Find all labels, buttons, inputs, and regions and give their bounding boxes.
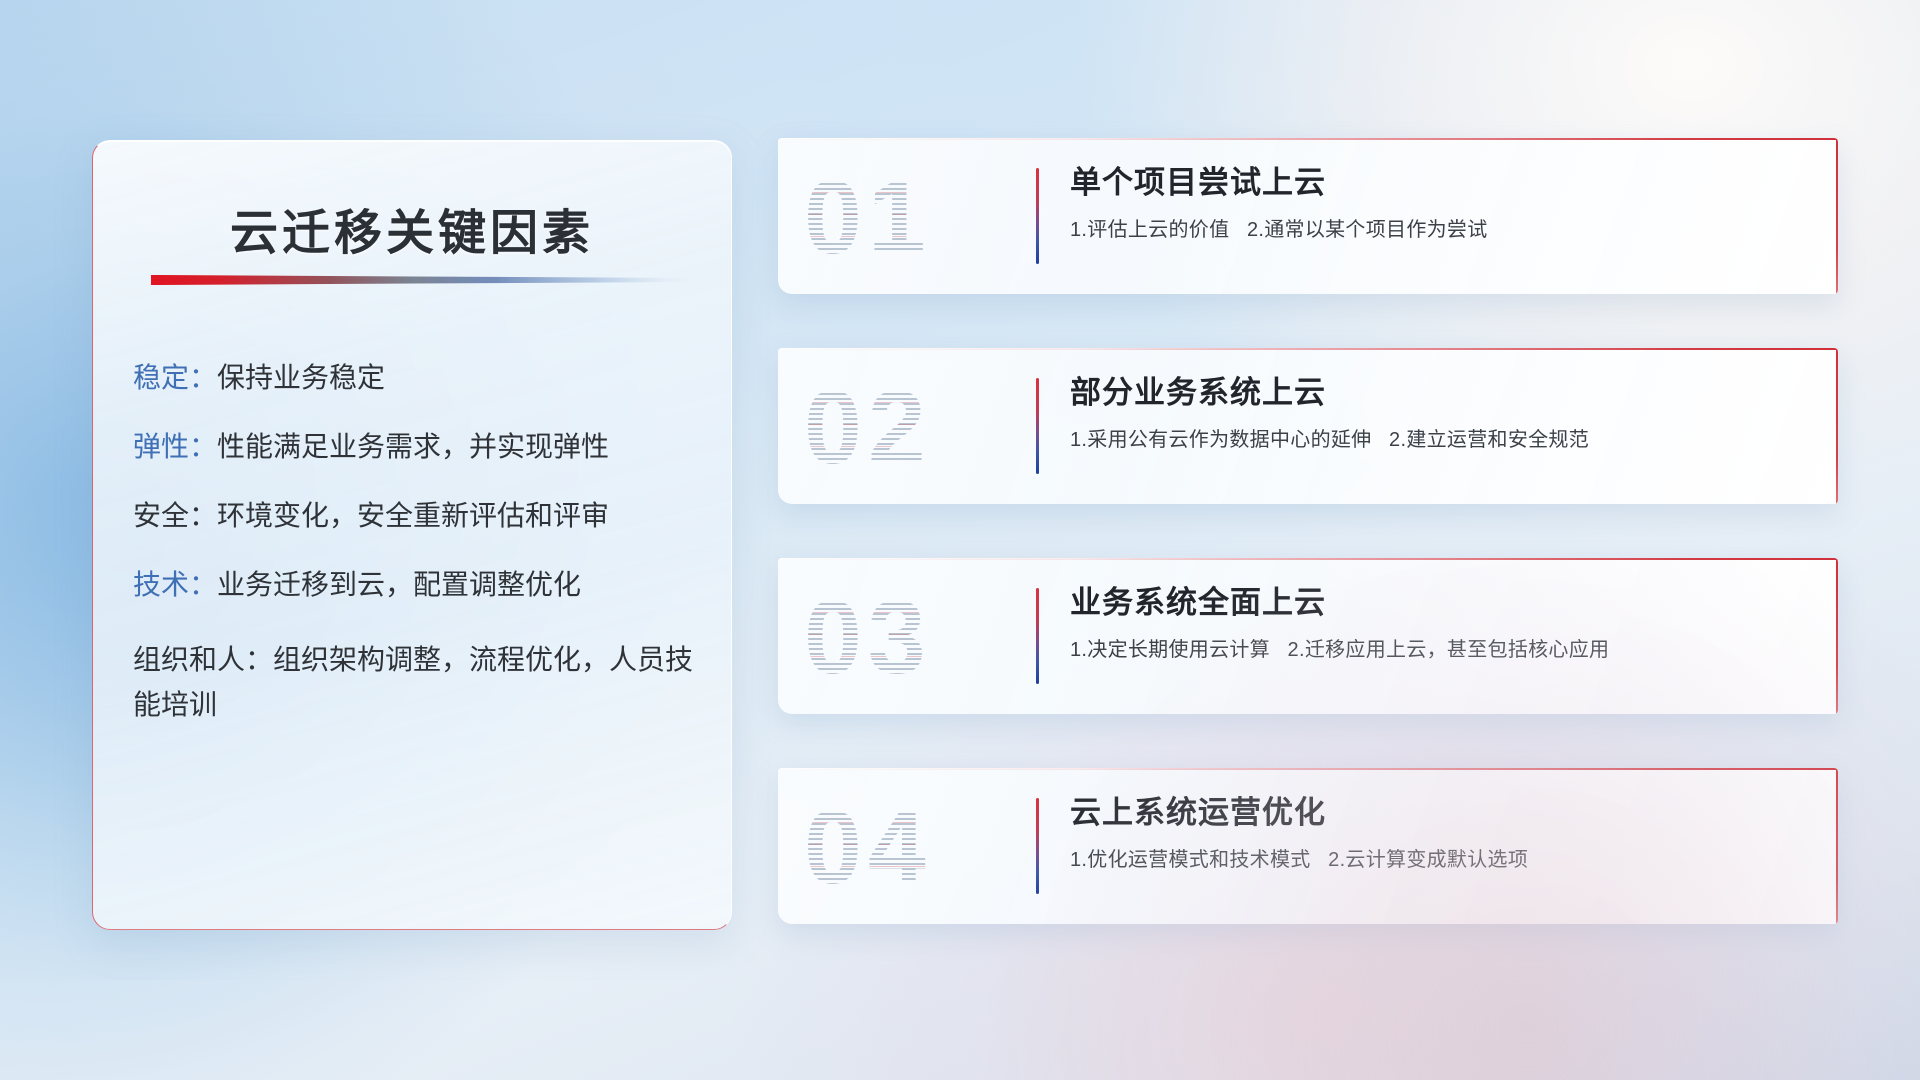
card-accent-bar [1036,588,1039,684]
step-number: 01 [804,148,1034,288]
card-subtitle: 1.采用公有云作为数据中心的延伸 2.建立运营和安全规范 [1070,427,1810,453]
factor-text: 性能满足业务需求，并实现弹性 [217,431,609,462]
card-body: 业务系统全面上云1.决定长期使用云计算 2.迁移应用上云，甚至包括核心应用 [1070,584,1810,663]
slide-canvas: 云迁移关键因素 稳定：保持业务稳定弹性：性能满足业务需求，并实现弹性安全：环境变… [0,0,1920,1080]
page-title: 云迁移关键因素 [93,193,731,263]
factor-text: 环境变化，安全重新评估和评审 [217,500,609,531]
card-accent-bar [1036,168,1039,264]
step-number-tint-overlay: 04 [804,778,1034,918]
card-top-accent-line [778,138,1838,140]
card-top-accent-line [778,348,1838,350]
key-factors-panel: 云迁移关键因素 稳定：保持业务稳定弹性：性能满足业务需求，并实现弹性安全：环境变… [92,140,732,930]
step-number: 03 [804,568,1034,708]
factor-label: 技术： [133,569,217,600]
card-top-accent-line [778,558,1838,560]
factor-label: 弹性： [133,431,217,462]
card-title: 单个项目尝试上云 [1070,164,1810,201]
card-subtitle: 1.优化运营模式和技术模式 2.云计算变成默认选项 [1070,847,1810,873]
migration-steps-list: 0101单个项目尝试上云1.评估上云的价值 2.通常以某个项目作为尝试0202部… [778,138,1838,924]
step-number-tint-overlay: 01 [804,148,1034,288]
card-right-accent-line [1836,558,1838,714]
step-card[interactable]: 0202部分业务系统上云1.采用公有云作为数据中心的延伸 2.建立运营和安全规范 [778,348,1838,504]
card-title: 部分业务系统上云 [1070,374,1810,411]
card-right-accent-line [1836,768,1838,924]
step-number-tint-overlay: 03 [804,568,1034,708]
card-body: 云上系统运营优化1.优化运营模式和技术模式 2.云计算变成默认选项 [1070,794,1810,873]
factor-label: 安全： [133,500,217,531]
card-accent-bar [1036,378,1039,474]
card-subtitle: 1.评估上云的价值 2.通常以某个项目作为尝试 [1070,217,1810,243]
step-number-tint-overlay: 02 [804,358,1034,498]
factor-row: 稳定：保持业务稳定 [133,361,701,394]
step-number: 02 [804,358,1034,498]
factor-label: 组织和人： [133,644,273,675]
factor-row: 技术：业务迁移到云，配置调整优化 [133,568,701,601]
card-title: 业务系统全面上云 [1070,584,1810,621]
title-underline-gradient [151,273,691,287]
factor-text: 保持业务稳定 [217,362,385,393]
step-number: 04 [804,778,1034,918]
card-accent-bar [1036,798,1039,894]
card-body: 单个项目尝试上云1.评估上云的价值 2.通常以某个项目作为尝试 [1070,164,1810,243]
factor-row: 安全：环境变化，安全重新评估和评审 [133,499,701,532]
factor-list: 稳定：保持业务稳定弹性：性能满足业务需求，并实现弹性安全：环境变化，安全重新评估… [133,361,701,728]
card-body: 部分业务系统上云1.采用公有云作为数据中心的延伸 2.建立运营和安全规范 [1070,374,1810,453]
card-subtitle: 1.决定长期使用云计算 2.迁移应用上云，甚至包括核心应用 [1070,637,1810,663]
factor-row: 组织和人：组织架构调整，流程优化，人员技能培训 [133,637,701,728]
step-card[interactable]: 0303业务系统全面上云1.决定长期使用云计算 2.迁移应用上云，甚至包括核心应… [778,558,1838,714]
card-title: 云上系统运营优化 [1070,794,1810,831]
factor-text: 业务迁移到云，配置调整优化 [217,569,581,600]
step-card[interactable]: 0101单个项目尝试上云1.评估上云的价值 2.通常以某个项目作为尝试 [778,138,1838,294]
card-top-accent-line [778,768,1838,770]
step-card[interactable]: 0404云上系统运营优化1.优化运营模式和技术模式 2.云计算变成默认选项 [778,768,1838,924]
factor-label: 稳定： [133,362,217,393]
factor-row: 弹性：性能满足业务需求，并实现弹性 [133,430,701,463]
card-right-accent-line [1836,138,1838,294]
card-right-accent-line [1836,348,1838,504]
